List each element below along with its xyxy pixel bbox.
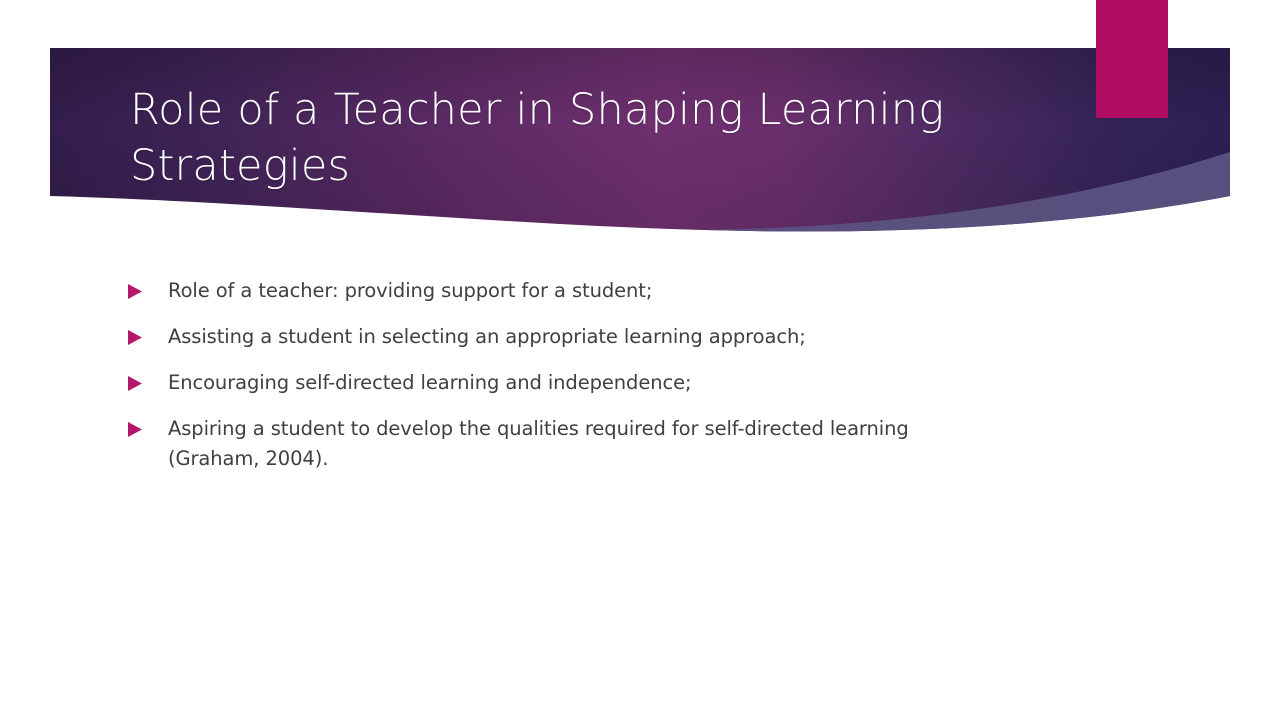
triangle-bullet-icon [128, 422, 144, 437]
triangle-bullet-icon [128, 330, 144, 345]
bullet-list: Role of a teacher: providing support for… [128, 276, 1128, 474]
triangle-bullet-icon [128, 284, 144, 299]
presentation-slide: Role of a Teacher in Shaping Learning St… [0, 0, 1280, 720]
list-item-text: Assisting a student in selecting an appr… [168, 322, 1128, 352]
triangle-bullet-icon [128, 376, 144, 391]
slide-title: Role of a Teacher in Shaping Learning St… [130, 82, 1060, 194]
magenta-accent-rectangle [1096, 0, 1168, 118]
list-item-text: Role of a teacher: providing support for… [168, 276, 1128, 306]
list-item: Assisting a student in selecting an appr… [128, 322, 1128, 352]
list-item: Aspiring a student to develop the qualit… [128, 414, 1128, 474]
list-item: Role of a teacher: providing support for… [128, 276, 1128, 306]
list-item-text: Aspiring a student to develop the qualit… [168, 414, 968, 474]
list-item-text: Encouraging self-directed learning and i… [168, 368, 1128, 398]
list-item: Encouraging self-directed learning and i… [128, 368, 1128, 398]
